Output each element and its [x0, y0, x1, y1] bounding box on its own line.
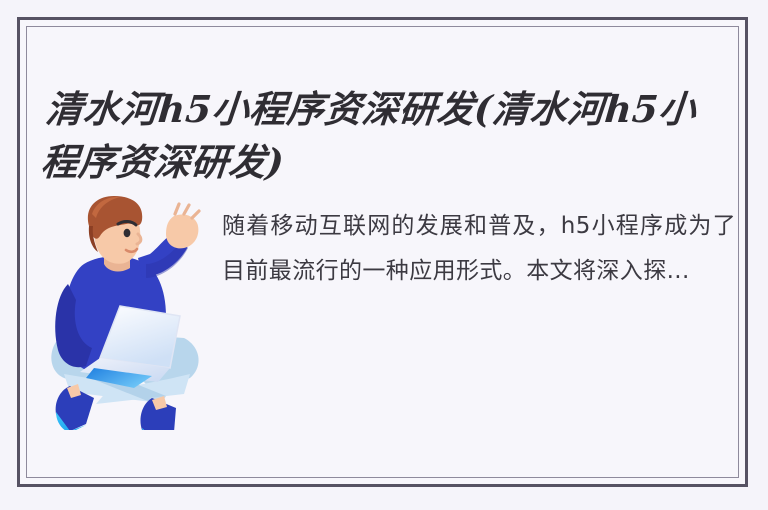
person-with-laptop-illustration: [34, 192, 220, 430]
waving-hand: [166, 204, 199, 248]
eye: [124, 229, 131, 237]
article-title: 清水河h5小程序资深研发(清水河h5小程序资深研发): [39, 83, 708, 188]
article-card: 清水河h5小程序资深研发(清水河h5小程序资深研发) 随着移动互联网的发展和普及…: [0, 0, 768, 510]
article-excerpt: 随着移动互联网的发展和普及，h5小程序成为了目前最流行的一种应用形式。本文将深入…: [222, 204, 736, 294]
